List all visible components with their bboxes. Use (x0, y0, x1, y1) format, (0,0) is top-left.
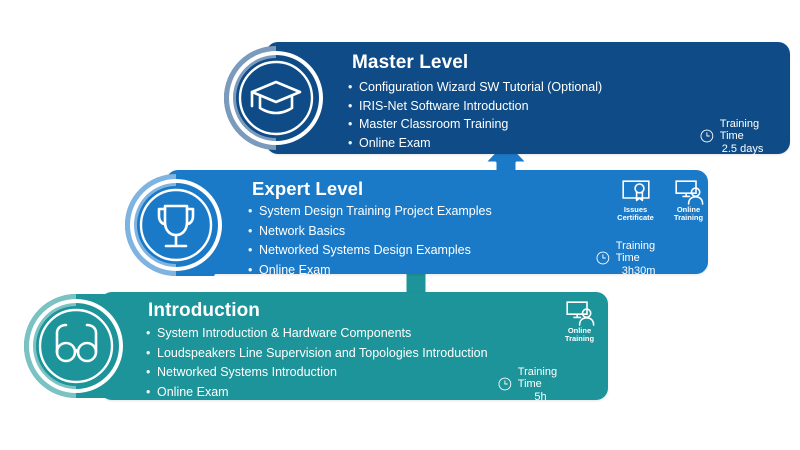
master-level-icon-badge (216, 38, 344, 158)
bullet-glyph: • (348, 134, 359, 153)
bullet-glyph: • (146, 383, 157, 403)
clock-icon (700, 126, 714, 146)
bullet-glyph: • (248, 261, 259, 281)
bullet-item: • System Introduction & Hardware Compone… (146, 324, 488, 344)
bullet-text: Networked Systems Introduction (157, 363, 337, 383)
bullet-glyph: • (248, 222, 259, 242)
clock-icon (596, 248, 610, 268)
bullet-glyph: • (248, 241, 259, 261)
bullet-glyph: • (146, 363, 157, 383)
expert-level-icon-badge (116, 166, 244, 284)
expert-feature-icons: Issues Certificate Online Training (613, 179, 711, 223)
feature-label-line2: Training (565, 334, 594, 343)
expert-training-time-badge: Training Time 3h30m (596, 240, 661, 277)
certificate-seal-icon (621, 179, 651, 205)
bullet-item: • Networked Systems Design Examples (248, 241, 492, 261)
bullet-glyph: • (348, 97, 359, 116)
expert-level-title: Expert Level (252, 178, 363, 200)
bullet-item: • Master Classroom Training (348, 115, 602, 134)
bullet-text: Online Exam (359, 134, 431, 153)
bullet-item: • Network Basics (248, 222, 492, 242)
training-time-label: Training Time (720, 118, 766, 143)
bullet-text: Loudspeakers Line Supervision and Topolo… (157, 344, 488, 364)
feature-label-line2: Certificate (617, 213, 654, 222)
bullet-text: Configuration Wizard SW Tutorial (Option… (359, 78, 602, 97)
feature-online-training: Online Training (557, 300, 602, 344)
bullet-glyph: • (348, 115, 359, 134)
feature-online-training: Online Training (666, 179, 711, 223)
bullet-text: Online Exam (259, 261, 331, 281)
bullet-item: • System Design Training Project Example… (248, 202, 492, 222)
introduction-level-bullet-list: • System Introduction & Hardware Compone… (146, 324, 488, 402)
training-time-value: 3h30m (616, 265, 662, 277)
bullet-text: Online Exam (157, 383, 229, 403)
bullet-text: IRIS-Net Software Introduction (359, 97, 529, 116)
bullet-item: • IRIS-Net Software Introduction (348, 97, 602, 116)
master-level-bullet-list: • Configuration Wizard SW Tutorial (Opti… (348, 78, 602, 152)
bullet-text: Network Basics (259, 222, 345, 242)
bullet-item: • Online Exam (348, 134, 602, 153)
online-training-monitor-person-icon (565, 300, 595, 326)
bullet-item: • Online Exam (248, 261, 492, 281)
introduction-level-icon-badge (16, 286, 144, 406)
bullet-glyph: • (146, 324, 157, 344)
feature-label-line2: Training (674, 213, 703, 222)
master-level-title: Master Level (352, 52, 468, 74)
training-time-value: 5h (518, 391, 564, 403)
bullet-glyph: • (146, 344, 157, 364)
bullet-item: • Configuration Wizard SW Tutorial (Opti… (348, 78, 602, 97)
clock-icon (498, 374, 512, 394)
bullet-item: • Online Exam (146, 383, 488, 403)
bullet-text: Master Classroom Training (359, 115, 508, 134)
training-time-value: 2.5 days (720, 143, 766, 155)
bullet-glyph: • (248, 202, 259, 222)
master-training-time-badge: Training Time 2.5 days (700, 118, 765, 155)
bullet-glyph: • (348, 78, 359, 97)
bullet-item: • Networked Systems Introduction (146, 363, 488, 383)
bullet-text: Networked Systems Design Examples (259, 241, 471, 261)
training-levels-diagram: Master Level • Configuration Wizard SW T… (0, 0, 800, 450)
training-time-label: Training Time (518, 366, 564, 391)
online-training-monitor-person-icon (674, 179, 704, 205)
expert-level-bullet-list: • System Design Training Project Example… (248, 202, 492, 280)
introduction-level-title: Introduction (148, 300, 260, 322)
introduction-training-time-badge: Training Time 5h (498, 366, 563, 403)
training-time-label: Training Time (616, 240, 662, 265)
introduction-feature-icons: Online Training (557, 300, 602, 344)
bullet-text: System Introduction & Hardware Component… (157, 324, 411, 344)
bullet-text: System Design Training Project Examples (259, 202, 492, 222)
feature-issues-certificate: Issues Certificate (613, 179, 658, 223)
bullet-item: • Loudspeakers Line Supervision and Topo… (146, 344, 488, 364)
